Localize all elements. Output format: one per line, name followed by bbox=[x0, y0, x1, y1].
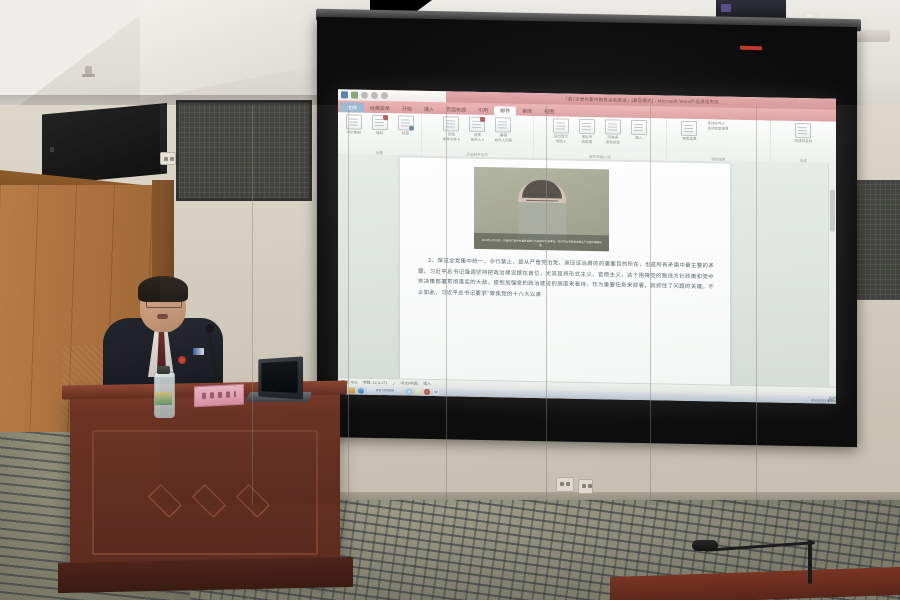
sprinkler-head-icon bbox=[85, 66, 92, 76]
podium-base bbox=[58, 557, 353, 593]
word-logo-icon bbox=[341, 91, 348, 98]
foreground-microphone-head bbox=[692, 540, 718, 551]
foreground-microphone-post bbox=[808, 540, 812, 584]
speaker-box-label: 8 bbox=[50, 147, 54, 154]
ceiling-speaker-box: 8 bbox=[42, 103, 167, 185]
save-icon[interactable] bbox=[351, 91, 358, 98]
screen-indicator bbox=[740, 46, 762, 50]
conference-room-photo: 8 「第7次党内集中教育活动讲话」[兼容模式] - Microsoft Word… bbox=[0, 0, 900, 600]
wall-panel-group bbox=[160, 105, 900, 505]
redo-icon[interactable] bbox=[371, 92, 378, 99]
undo-icon[interactable] bbox=[361, 92, 368, 99]
customize-icon[interactable] bbox=[381, 92, 388, 99]
